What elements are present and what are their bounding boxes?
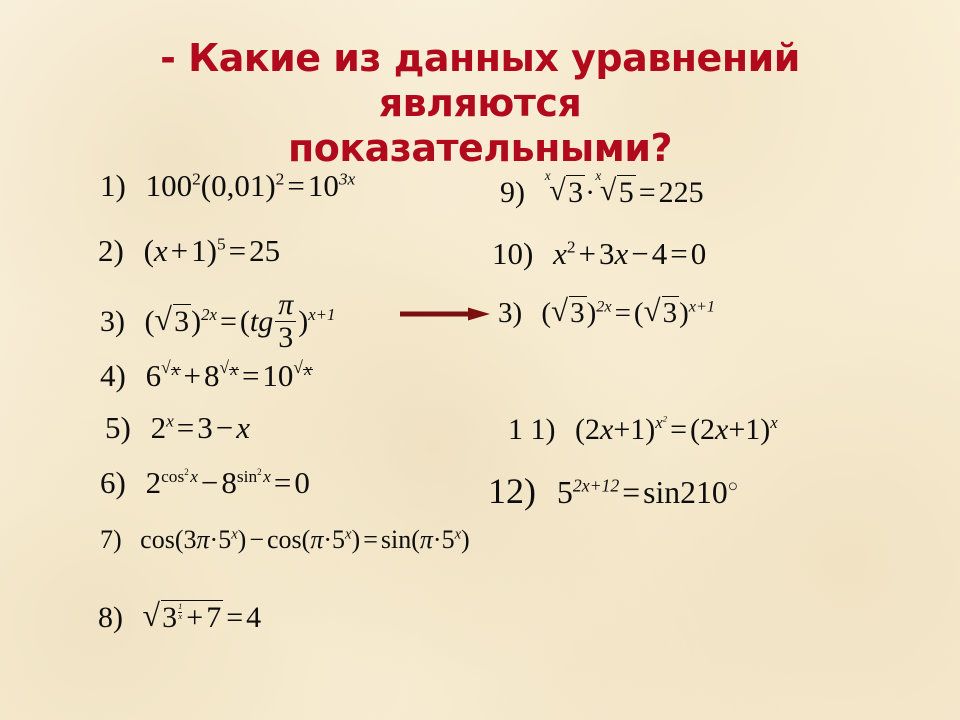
page-title: - Какие из данных уравнений являются пок… xyxy=(60,36,900,171)
equation-body-8: 31x+7=4 xyxy=(143,600,262,635)
equation-number-1: 1) xyxy=(100,168,126,204)
equation-body-4: 6x+8x=10x xyxy=(146,358,313,394)
equation-number-7: 7) xyxy=(100,525,122,555)
equation-body-9: x3·x5=225 xyxy=(545,175,704,210)
fraction-pi-over-3: π3 xyxy=(275,289,296,353)
equation-item-1: 1) 1002(0,01)2=103x xyxy=(100,168,355,204)
equation-number-3: 3) xyxy=(100,305,125,339)
slide-canvas: - Какие из данных уравнений являются пок… xyxy=(0,0,960,720)
nth-root-icon: x3 xyxy=(545,175,586,210)
equation-number-11: 1 1) xyxy=(508,413,556,447)
equation-body-5: 2x=3−x xyxy=(151,410,250,446)
equation-item-4: 4) 6x+8x=10x xyxy=(100,358,313,394)
equation-number-9: 9) xyxy=(500,176,525,210)
equation-item-10: 10) x2+3x−4=0 xyxy=(492,236,706,272)
nth-root-icon: x5 xyxy=(595,175,636,210)
sqrt-icon: 31x+7 xyxy=(143,600,224,635)
degree-symbol: ○ xyxy=(728,475,739,495)
sqrt-icon: x xyxy=(293,369,312,370)
title-line-1: - Какие из данных уравнений xyxy=(60,36,900,81)
equation-number-5: 5) xyxy=(105,410,131,446)
equation-number-2: 2) xyxy=(98,233,124,269)
title-line-2: являются xyxy=(60,81,900,126)
equation-item-11: 1 1) (2x+1)x2=(2x+1)x xyxy=(508,413,778,447)
equation-body-7: cos(3π·5x)−cos(π·5x)=sin(π·5x) xyxy=(140,525,470,555)
title-line-3: показательными? xyxy=(60,126,900,171)
equation-number-3-transformed: 3) xyxy=(498,297,522,330)
equation-item-2: 2) (x+1)5=25 xyxy=(98,233,280,269)
equation-number-12: 12) xyxy=(488,470,536,512)
equation-body-10: x2+3x−4=0 xyxy=(553,236,706,272)
equation-item-3: 3) (3)2x=(tgπ3)x+1 xyxy=(100,292,335,356)
equation-item-6: 6) 2cos2 x−8sin2 x=0 xyxy=(100,465,310,501)
equation-body-1: 1002(0,01)2=103x xyxy=(146,168,356,204)
equation-body-3-transformed: (3)2x=(3)x+1 xyxy=(541,296,715,330)
fraction-one-over-x: 1x xyxy=(178,603,182,621)
equation-number-10: 10) xyxy=(492,236,533,272)
equation-item-5: 5) 2x=3−x xyxy=(105,410,250,446)
sqrt-icon: 3 xyxy=(551,296,586,330)
equation-body-6: 2cos2 x−8sin2 x=0 xyxy=(146,465,310,501)
equation-item-8: 8) 31x+7=4 xyxy=(98,600,261,635)
equation-number-6: 6) xyxy=(100,465,126,501)
equation-item-9: 9) x3·x5=225 xyxy=(500,175,704,210)
equation-item-3-transformed: 3) (3)2x=(3)x+1 xyxy=(498,296,715,330)
equation-number-8: 8) xyxy=(98,601,123,635)
sqrt-icon: 3 xyxy=(644,296,679,330)
equation-item-12: 12) 52x+12=sin210○ xyxy=(488,470,738,512)
sqrt-icon: x xyxy=(220,369,239,370)
equation-body-2: (x+1)5=25 xyxy=(144,233,281,269)
sqrt-icon: 3 xyxy=(155,304,192,339)
equation-body-12: 52x+12=sin210○ xyxy=(557,475,738,511)
equation-number-4: 4) xyxy=(100,358,126,394)
equation-body-3: (3)2x=(tgπ3)x+1 xyxy=(145,292,336,356)
transformation-arrow-icon xyxy=(400,306,490,322)
sqrt-icon: x xyxy=(161,369,180,370)
equation-body-11: (2x+1)x2=(2x+1)x xyxy=(575,413,778,447)
equation-item-7: 7) cos(3π·5x)−cos(π·5x)=sin(π·5x) xyxy=(100,525,470,555)
